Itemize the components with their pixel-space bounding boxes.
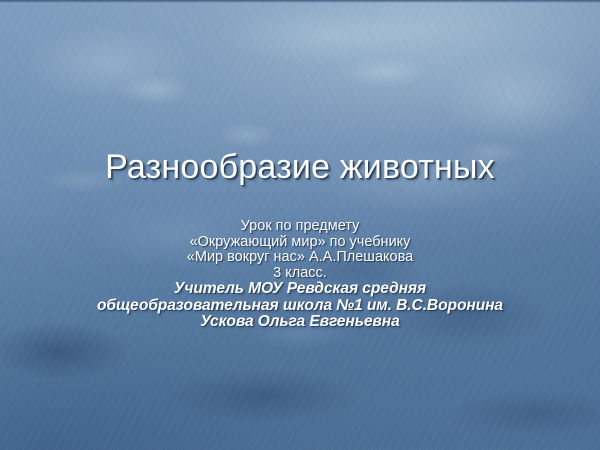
author-line-teacher: Учитель МОУ Ревдская средняя — [0, 281, 600, 297]
slide-subtitle-block: Урок по предмету «Окружающий мир» по уче… — [0, 219, 600, 331]
subtitle-line-3: «Мир вокруг нас» А.А.Плешакова — [0, 250, 600, 266]
author-line-school: общеобразовательная школа №1 им. В.С.Вор… — [0, 298, 600, 314]
subtitle-line-1: Урок по предмету — [0, 219, 600, 235]
slide-title: Разнообразие животных — [0, 148, 600, 187]
author-line-name: Ускова Ольга Евгеньевна — [0, 314, 600, 330]
presentation-slide: Разнообразие животных Урок по предмету «… — [0, 0, 600, 450]
subtitle-line-2: «Окружающий мир» по учебнику — [0, 235, 600, 251]
slide-content: Разнообразие животных Урок по предмету «… — [0, 0, 600, 450]
